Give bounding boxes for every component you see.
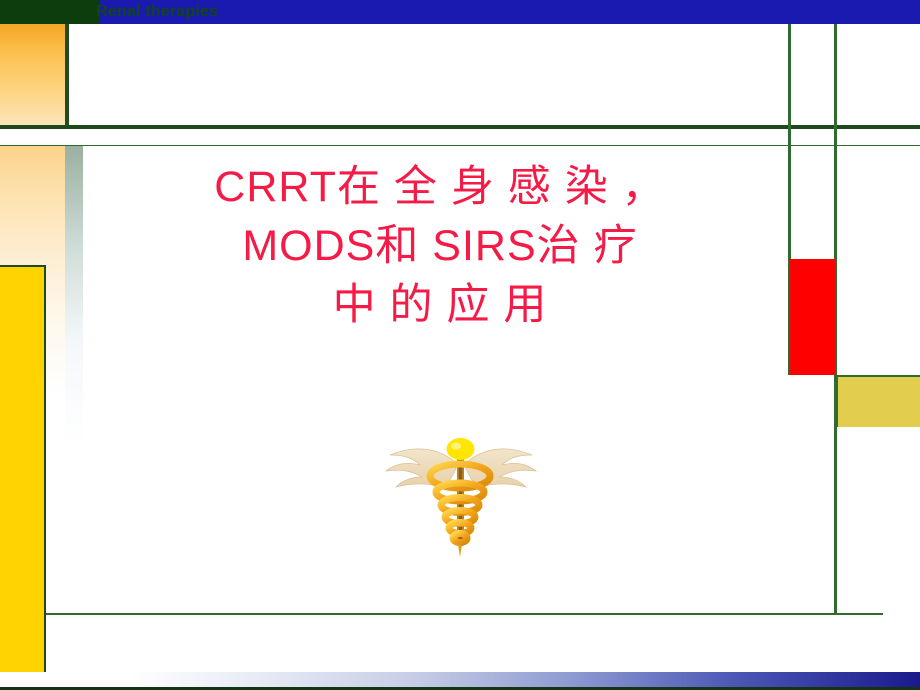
top-banner-dark-block <box>0 0 100 24</box>
left-gradient-top-block <box>0 24 65 125</box>
vertical-rule-left <box>65 24 69 125</box>
caduceus-icon <box>380 425 540 565</box>
yellow-sidebar-block <box>0 265 46 690</box>
slide-title: CRRT在 全 身 感 染 ， MODS和 SIRS治 疗 中 的 应 用 <box>90 158 790 335</box>
banner-title-text: Renal therapies <box>96 3 218 21</box>
gold-accent-block <box>836 375 920 427</box>
bottom-gradient-bar <box>0 672 920 688</box>
horizontal-rule-thick <box>0 125 920 129</box>
left-gradient-fade-strip <box>65 146 83 446</box>
slide-canvas: Renal therapies CRRT在 全 身 感 染 ， MODS和 SI… <box>0 0 920 690</box>
horizontal-rule-bottom <box>0 613 883 615</box>
red-accent-block <box>790 259 835 375</box>
horizontal-rule-thin <box>0 145 920 146</box>
